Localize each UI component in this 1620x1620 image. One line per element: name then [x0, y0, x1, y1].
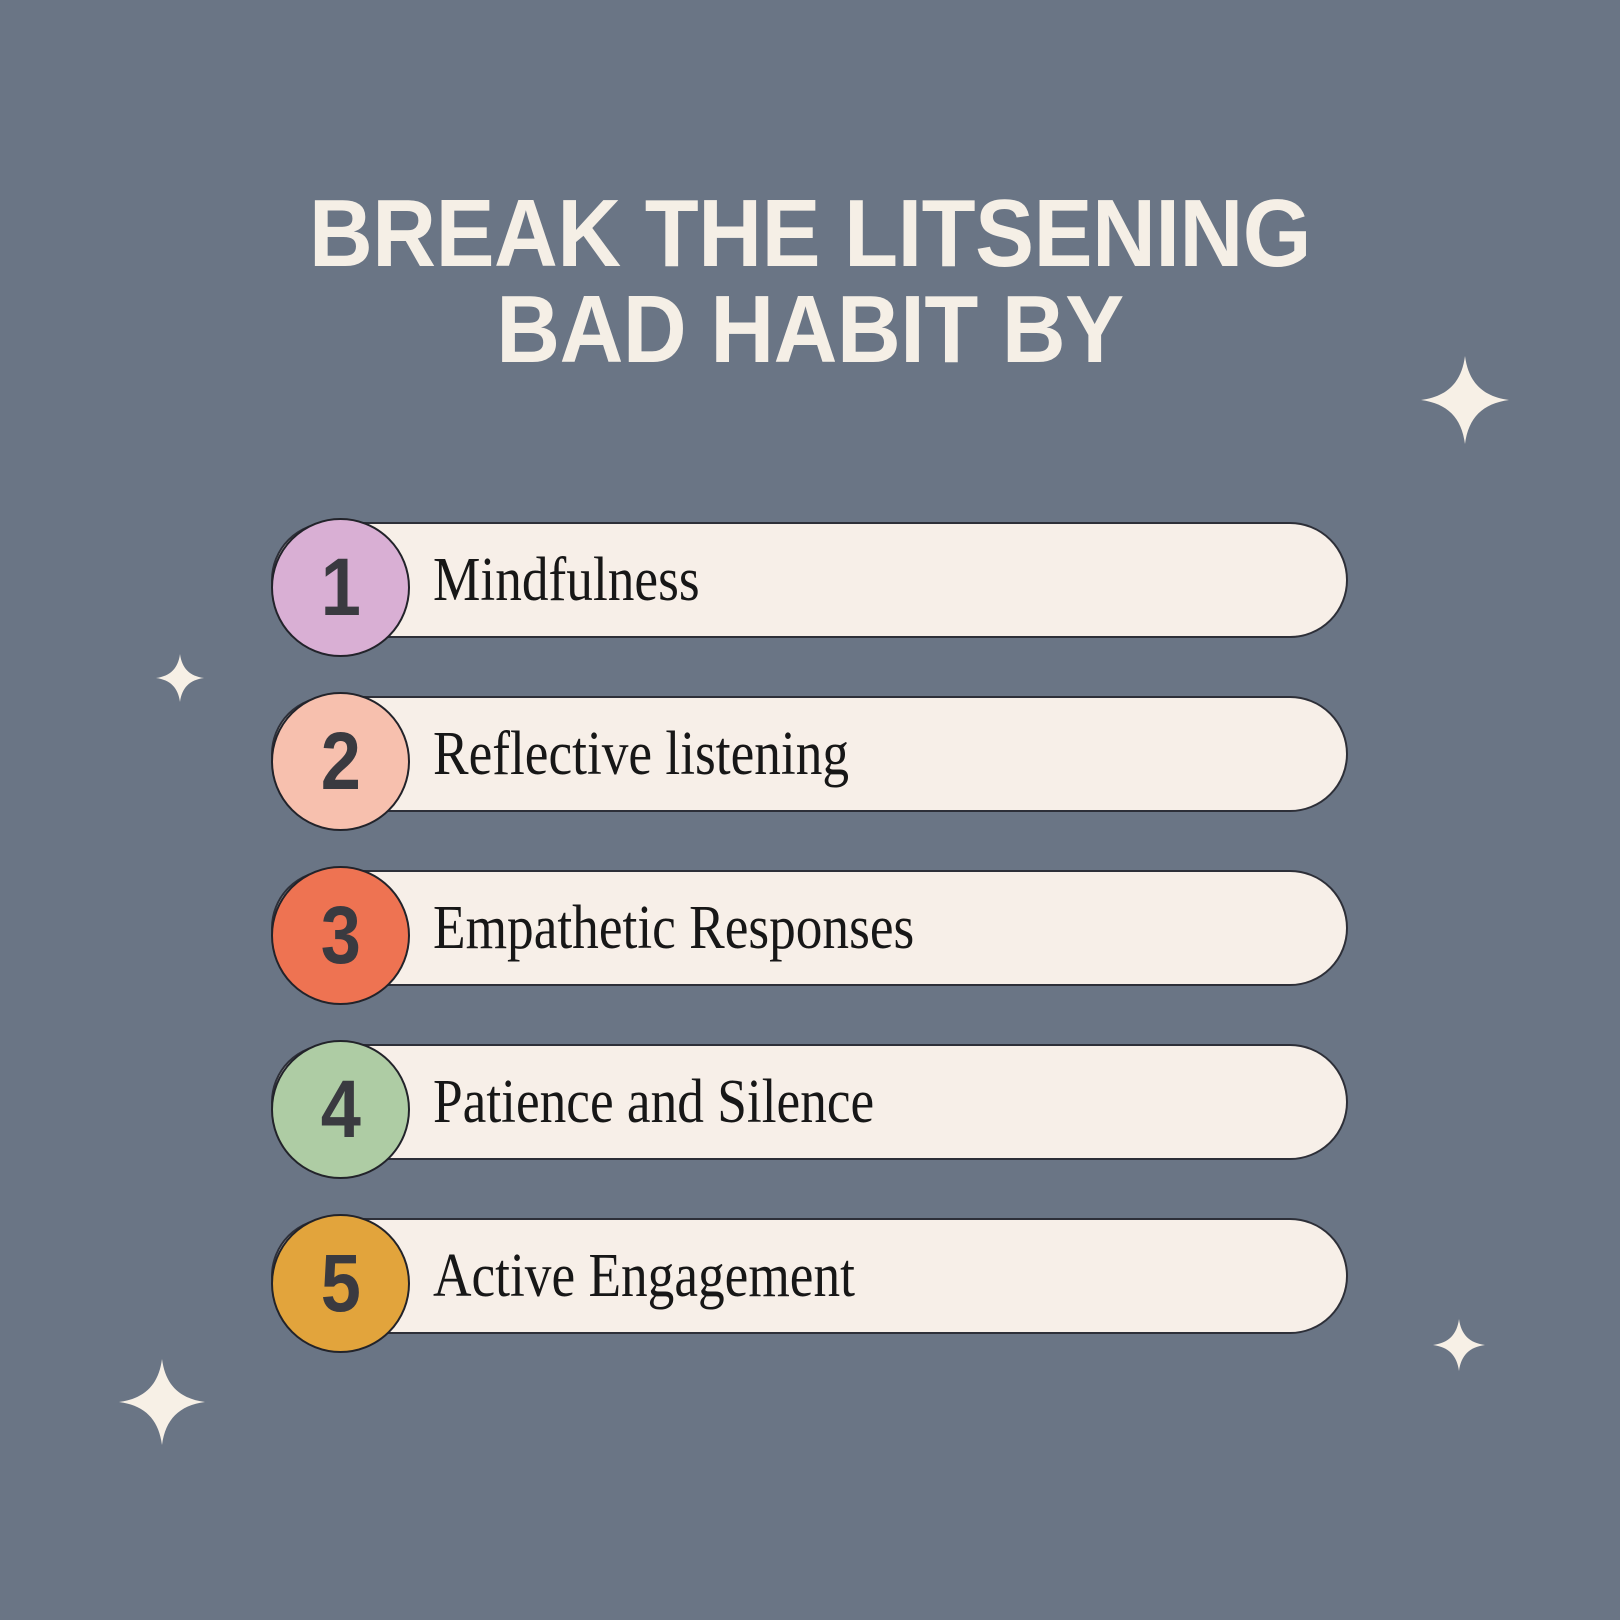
list-item-label: Reflective listening — [433, 696, 917, 812]
sparkle-bottom-right-icon — [1433, 1319, 1485, 1371]
list-item-number-badge: 4 — [271, 1040, 410, 1179]
list-item-number: 5 — [320, 1243, 360, 1325]
list-item-number-badge: 1 — [271, 518, 410, 657]
list-item-label: Mindfulness — [433, 522, 743, 638]
list-item[interactable]: 5 Active Engagement — [271, 1218, 1349, 1334]
steps-list: 1 Mindfulness 2 Reflective listening 3 E… — [271, 522, 1349, 1392]
list-item-number-badge: 3 — [271, 866, 410, 1005]
list-item-label: Active Engagement — [433, 1218, 924, 1334]
poster-canvas: BREAK THE LITSENING BAD HABIT BY 1 Mindf — [0, 0, 1620, 1620]
page-title: BREAK THE LITSENING BAD HABIT BY — [0, 188, 1620, 376]
list-item-number-badge: 2 — [271, 692, 410, 831]
list-item[interactable]: 4 Patience and Silence — [271, 1044, 1349, 1160]
list-item-label: Patience and Silence — [433, 1044, 946, 1160]
list-item-number: 3 — [320, 895, 360, 977]
list-item[interactable]: 2 Reflective listening — [271, 696, 1349, 812]
list-item-number-badge: 5 — [271, 1214, 410, 1353]
page-title-line-2: BAD HABIT BY — [65, 284, 1555, 376]
list-item[interactable]: 1 Mindfulness — [271, 522, 1349, 638]
sparkle-left-small-icon — [156, 654, 204, 702]
sparkle-bottom-left-icon — [119, 1359, 205, 1445]
list-item[interactable]: 3 Empathetic Responses — [271, 870, 1349, 986]
page-title-line-1: BREAK THE LITSENING — [65, 188, 1555, 280]
list-item-number: 4 — [320, 1069, 360, 1151]
list-item-number: 2 — [320, 721, 360, 803]
list-item-number: 1 — [320, 547, 360, 629]
list-item-label: Empathetic Responses — [433, 870, 993, 986]
